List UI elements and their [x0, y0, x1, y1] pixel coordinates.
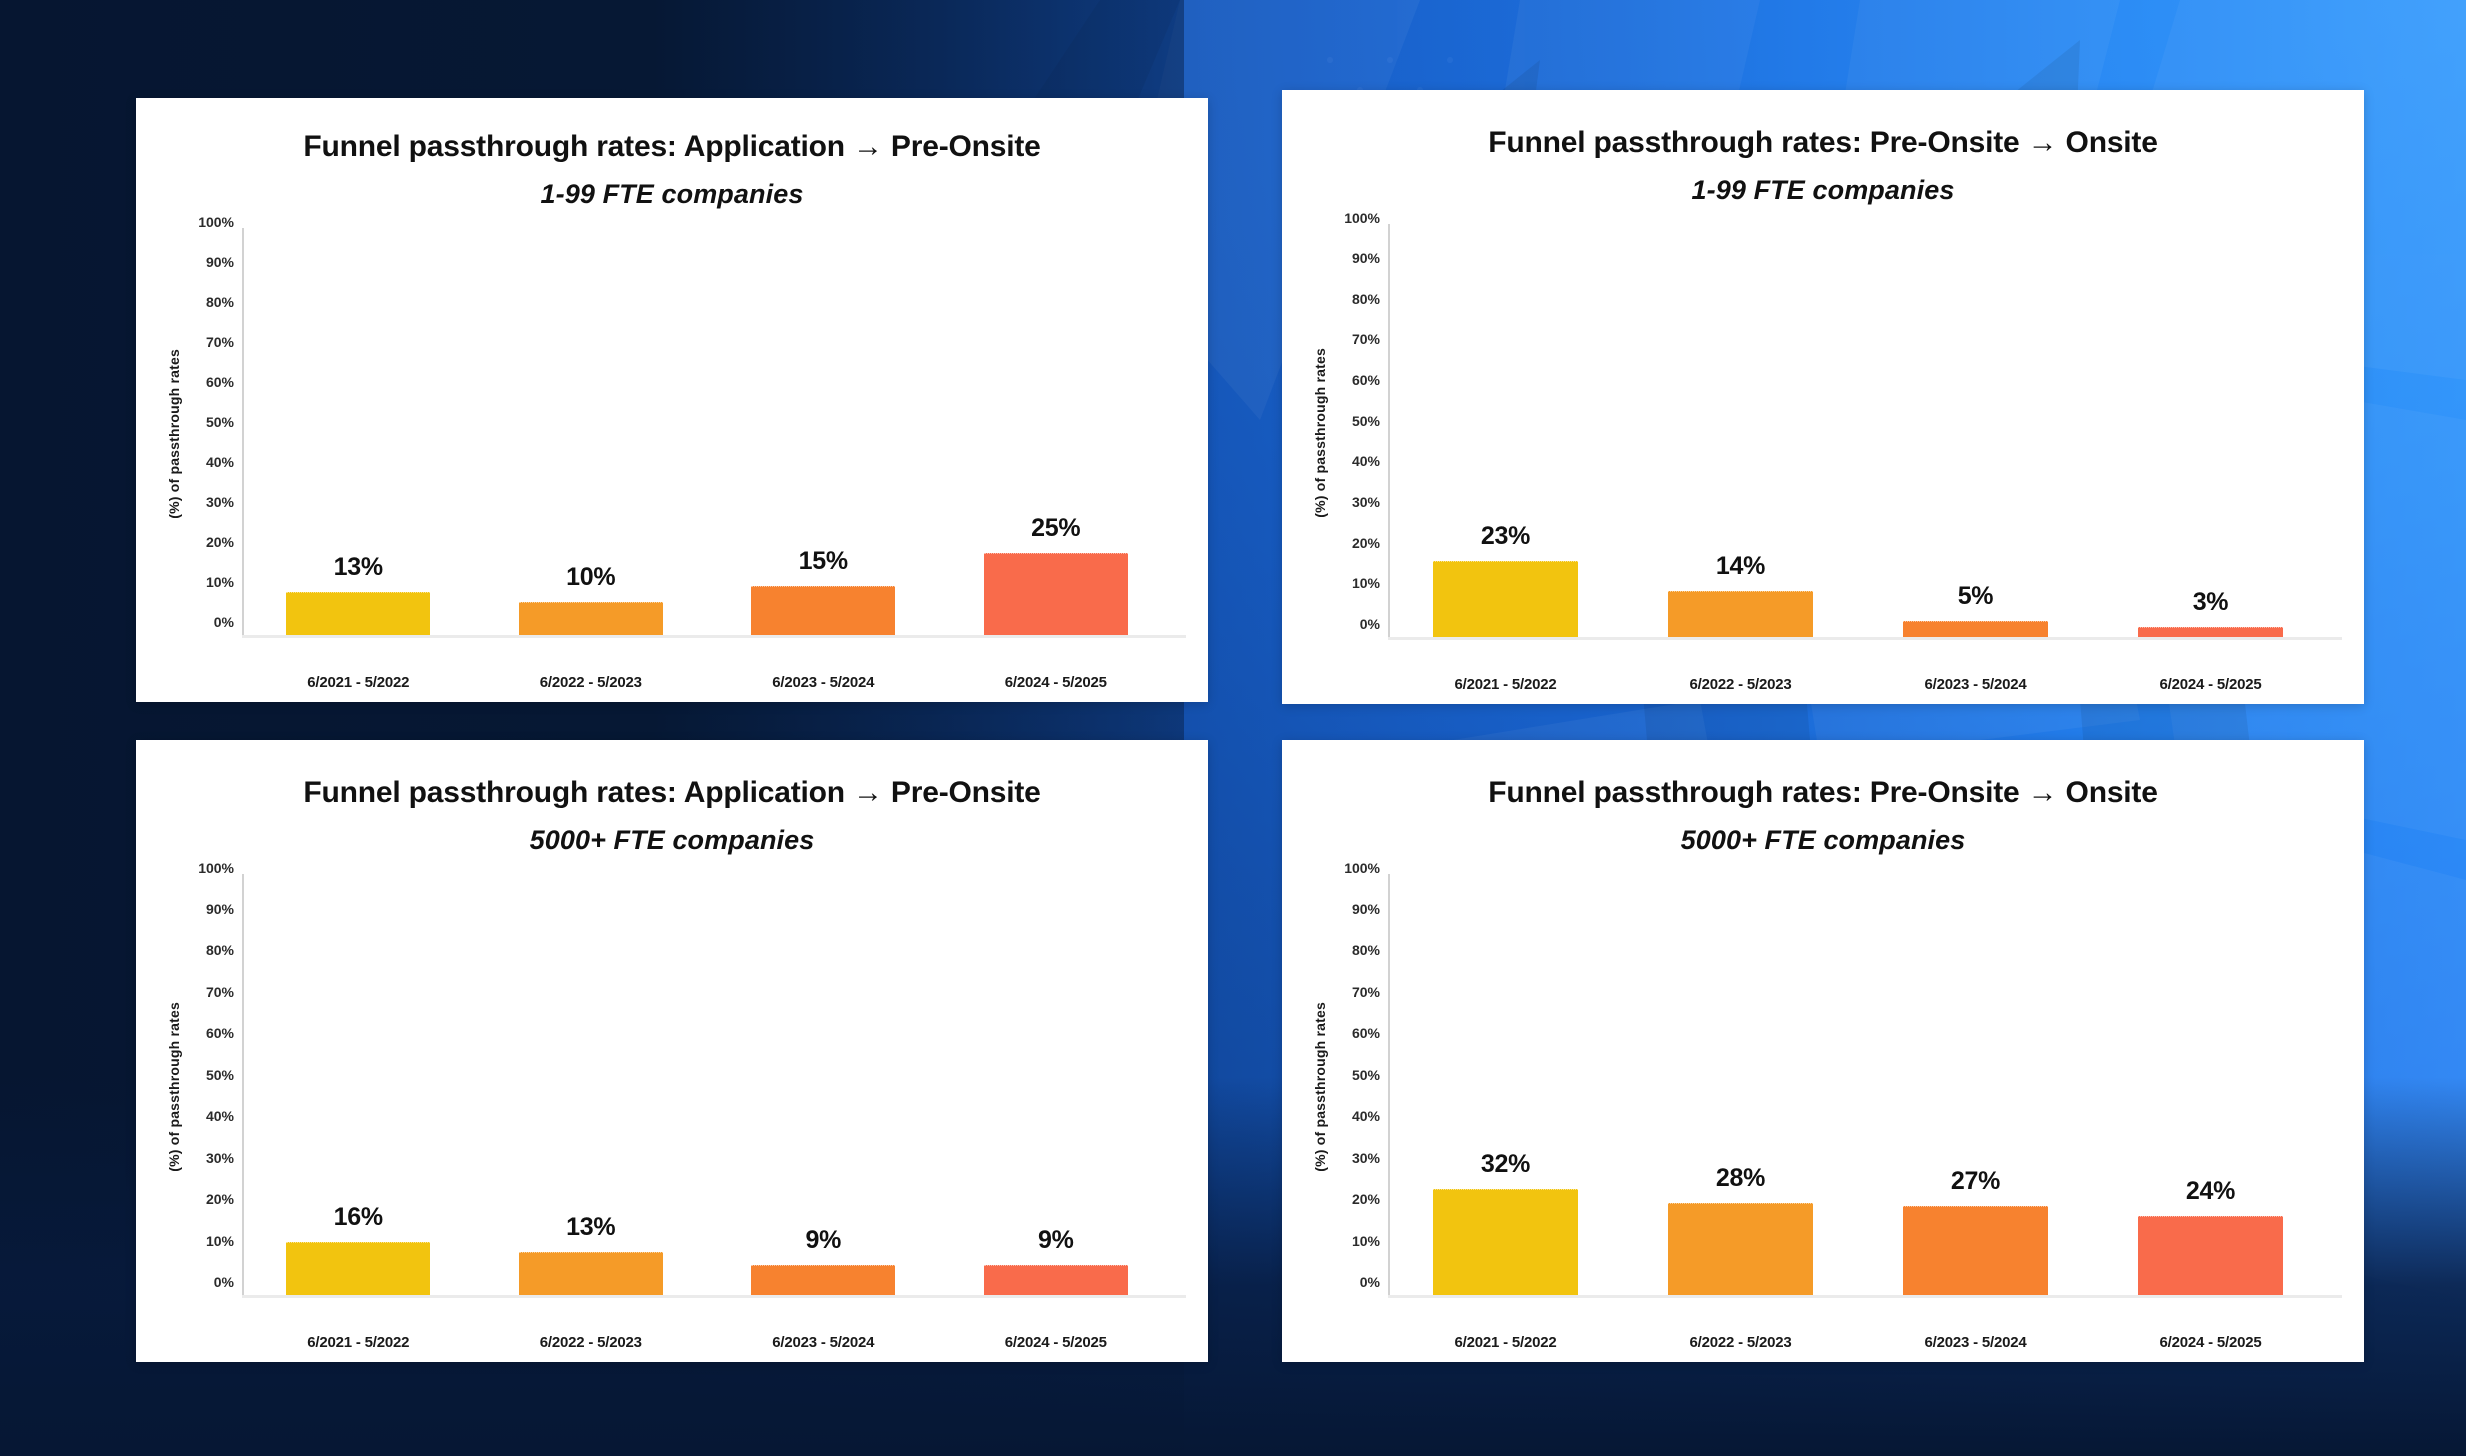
bars-container: 23%14%5%3%6/2021 - 5/20226/2022 - 5/2023…	[1388, 224, 2328, 695]
plot-area: (%) of passthrough rates100%90%80%70%60%…	[1282, 856, 2364, 1363]
x-tick-label: 6/2023 - 5/2024	[772, 674, 874, 691]
chart-subtitle: 1-99 FTE companies	[136, 179, 1208, 210]
chart-grid: Funnel passthrough rates: Application → …	[0, 0, 2466, 1456]
x-tick-label: 6/2022 - 5/2023	[1689, 676, 1791, 693]
x-tick-label: 6/2021 - 5/2022	[307, 1334, 409, 1351]
y-tick-label: 100%	[198, 214, 234, 230]
x-tick-label: 6/2023 - 5/2024	[1924, 676, 2026, 693]
bar[interactable]	[984, 553, 1128, 636]
y-tick-label: 80%	[206, 294, 234, 310]
y-axis-title: (%) of passthrough rates	[166, 349, 182, 519]
plot-area: (%) of passthrough rates100%90%80%70%60%…	[1282, 206, 2364, 705]
y-tick-label: 60%	[1352, 1025, 1380, 1041]
y-tick-label: 70%	[206, 334, 234, 350]
y-tick-label: 70%	[1352, 984, 1380, 1000]
y-tick-label: 10%	[1352, 575, 1380, 591]
y-tick-label: 60%	[206, 374, 234, 390]
chart-subtitle: 1-99 FTE companies	[1282, 175, 2364, 206]
x-axis-baseline	[242, 1295, 1186, 1298]
bar[interactable]	[1433, 1189, 1579, 1295]
bar-group[interactable]: 16%	[286, 1203, 430, 1295]
bars-container: 32%28%27%24%6/2021 - 5/20226/2022 - 5/20…	[1388, 874, 2328, 1353]
x-axis-baseline	[242, 635, 1186, 638]
x-tick-label: 6/2022 - 5/2023	[540, 674, 642, 691]
chart-title: Funnel passthrough rates: Application → …	[136, 776, 1208, 811]
plot-canvas: 100%90%80%70%60%50%40%30%20%10%0%13%10%1…	[188, 228, 1172, 693]
y-tick-label: 70%	[206, 984, 234, 1000]
y-axis-title: (%) of passthrough rates	[166, 1002, 182, 1172]
bar-value-label: 3%	[2193, 588, 2229, 617]
y-tick-label: 30%	[1352, 494, 1380, 510]
chart-title: Funnel passthrough rates: Pre-Onsite → O…	[1282, 126, 2364, 161]
bar-value-label: 9%	[805, 1226, 841, 1255]
x-tick-label: 6/2023 - 5/2024	[772, 1334, 874, 1351]
plot-area: (%) of passthrough rates100%90%80%70%60%…	[136, 210, 1208, 703]
y-tick-label: 80%	[206, 942, 234, 958]
bar-group[interactable]: 23%	[1433, 522, 1579, 637]
bar-group[interactable]: 10%	[519, 563, 663, 635]
y-tick-label: 90%	[1352, 901, 1380, 917]
chart-title: Funnel passthrough rates: Pre-Onsite → O…	[1282, 776, 2364, 811]
y-axis-title: (%) of passthrough rates	[1312, 1002, 1328, 1172]
y-tick-label: 50%	[1352, 413, 1380, 429]
x-tick-label: 6/2021 - 5/2022	[307, 674, 409, 691]
y-tick-label: 60%	[206, 1025, 234, 1041]
y-tick-label: 30%	[206, 1150, 234, 1166]
bar-value-label: 5%	[1958, 582, 1994, 611]
bar-group[interactable]: 14%	[1668, 552, 1814, 637]
bar[interactable]	[1903, 621, 2049, 638]
bar[interactable]	[1668, 1203, 1814, 1295]
chart-subtitle: 5000+ FTE companies	[1282, 825, 2364, 856]
bar[interactable]	[984, 1265, 1128, 1295]
y-tick-label: 60%	[1352, 372, 1380, 388]
y-tick-label: 70%	[1352, 331, 1380, 347]
chart-card-preonsite-to-onsite-5000: Funnel passthrough rates: Pre-Onsite → O…	[1282, 740, 2364, 1362]
y-axis-ticks: 100%90%80%70%60%50%40%30%20%10%0%	[1334, 874, 1388, 1353]
x-axis-baseline	[1388, 637, 2342, 640]
bar[interactable]	[519, 602, 663, 635]
bar-group[interactable]: 5%	[1903, 582, 2049, 638]
bar-group[interactable]: 15%	[751, 547, 895, 636]
y-tick-label: 100%	[198, 860, 234, 876]
bar-value-label: 27%	[1951, 1167, 2000, 1196]
x-tick-label: 6/2021 - 5/2022	[1454, 676, 1556, 693]
bar[interactable]	[751, 586, 895, 636]
x-tick-label: 6/2023 - 5/2024	[1924, 1334, 2026, 1351]
bar-value-label: 9%	[1038, 1226, 1074, 1255]
y-axis-ticks: 100%90%80%70%60%50%40%30%20%10%0%	[188, 228, 242, 693]
bar-group[interactable]: 9%	[751, 1226, 895, 1295]
bar[interactable]	[751, 1265, 895, 1295]
bar[interactable]	[519, 1252, 663, 1295]
bar-value-label: 13%	[334, 553, 383, 582]
bar-group[interactable]: 28%	[1668, 1164, 1814, 1295]
y-tick-label: 50%	[206, 1067, 234, 1083]
y-tick-label: 10%	[206, 574, 234, 590]
y-tick-label: 90%	[206, 901, 234, 917]
y-tick-label: 40%	[1352, 453, 1380, 469]
x-tick-label: 6/2024 - 5/2025	[1005, 674, 1107, 691]
y-tick-label: 90%	[1352, 250, 1380, 266]
bar-group[interactable]: 13%	[519, 1213, 663, 1295]
bar-value-label: 13%	[566, 1213, 615, 1242]
y-tick-label: 30%	[206, 494, 234, 510]
y-tick-label: 20%	[206, 1191, 234, 1207]
chart-card-app-to-preonsite-5000: Funnel passthrough rates: Application → …	[136, 740, 1208, 1362]
y-tick-label: 80%	[1352, 291, 1380, 307]
y-tick-label: 80%	[1352, 942, 1380, 958]
x-axis-baseline	[1388, 1295, 2342, 1298]
bar[interactable]	[286, 1242, 430, 1295]
bar-value-label: 28%	[1716, 1164, 1765, 1193]
bar[interactable]	[1903, 1206, 2049, 1295]
bar-group[interactable]: 25%	[984, 514, 1128, 636]
y-tick-label: 40%	[206, 1108, 234, 1124]
bar-value-label: 10%	[566, 563, 615, 592]
y-tick-label: 0%	[1360, 1274, 1380, 1290]
y-axis-ticks: 100%90%80%70%60%50%40%30%20%10%0%	[188, 874, 242, 1353]
bar-value-label: 24%	[2186, 1177, 2235, 1206]
y-tick-label: 0%	[1360, 616, 1380, 632]
y-tick-label: 20%	[206, 534, 234, 550]
bar-group[interactable]: 32%	[1433, 1150, 1579, 1295]
bar-group[interactable]: 27%	[1903, 1167, 2049, 1295]
y-tick-label: 100%	[1344, 210, 1380, 226]
bars-container: 16%13%9%9%6/2021 - 5/20226/2022 - 5/2023…	[242, 874, 1172, 1353]
bar-group[interactable]: 3%	[2138, 588, 2284, 637]
y-tick-label: 40%	[206, 454, 234, 470]
x-tick-label: 6/2022 - 5/2023	[1689, 1334, 1791, 1351]
bar-value-label: 32%	[1481, 1150, 1530, 1179]
y-tick-label: 30%	[1352, 1150, 1380, 1166]
bar-value-label: 15%	[799, 547, 848, 576]
y-tick-label: 20%	[1352, 535, 1380, 551]
y-tick-label: 100%	[1344, 860, 1380, 876]
bar-value-label: 23%	[1481, 522, 1530, 551]
y-tick-label: 20%	[1352, 1191, 1380, 1207]
y-tick-label: 0%	[214, 614, 234, 630]
x-tick-label: 6/2021 - 5/2022	[1454, 1334, 1556, 1351]
plot-canvas: 100%90%80%70%60%50%40%30%20%10%0%32%28%2…	[1334, 874, 2328, 1353]
x-tick-label: 6/2022 - 5/2023	[540, 1334, 642, 1351]
bar[interactable]	[286, 592, 430, 635]
y-tick-label: 10%	[1352, 1233, 1380, 1249]
bar[interactable]	[2138, 1216, 2284, 1295]
bar[interactable]	[2138, 627, 2284, 637]
y-tick-label: 50%	[206, 414, 234, 430]
bar-value-label: 16%	[334, 1203, 383, 1232]
bar-group[interactable]: 9%	[984, 1226, 1128, 1295]
chart-card-app-to-preonsite-1-99: Funnel passthrough rates: Application → …	[136, 98, 1208, 702]
y-tick-label: 10%	[206, 1233, 234, 1249]
x-tick-label: 6/2024 - 5/2025	[2159, 1334, 2261, 1351]
y-tick-label: 90%	[206, 254, 234, 270]
y-tick-label: 40%	[1352, 1108, 1380, 1124]
bar-group[interactable]: 13%	[286, 553, 430, 635]
y-tick-label: 0%	[214, 1274, 234, 1290]
bar-value-label: 14%	[1716, 552, 1765, 581]
plot-area: (%) of passthrough rates100%90%80%70%60%…	[136, 856, 1208, 1363]
x-tick-label: 6/2024 - 5/2025	[1005, 1334, 1107, 1351]
y-axis-ticks: 100%90%80%70%60%50%40%30%20%10%0%	[1334, 224, 1388, 695]
chart-subtitle: 5000+ FTE companies	[136, 825, 1208, 856]
bar-value-label: 25%	[1031, 514, 1080, 543]
y-tick-label: 50%	[1352, 1067, 1380, 1083]
chart-card-preonsite-to-onsite-1-99: Funnel passthrough rates: Pre-Onsite → O…	[1282, 90, 2364, 704]
y-axis-title: (%) of passthrough rates	[1312, 348, 1328, 518]
x-tick-label: 6/2024 - 5/2025	[2159, 676, 2261, 693]
plot-canvas: 100%90%80%70%60%50%40%30%20%10%0%23%14%5…	[1334, 224, 2328, 695]
bars-container: 13%10%15%25%6/2021 - 5/20226/2022 - 5/20…	[242, 228, 1172, 693]
chart-title: Funnel passthrough rates: Application → …	[136, 130, 1208, 165]
bar[interactable]	[1668, 591, 1814, 637]
plot-canvas: 100%90%80%70%60%50%40%30%20%10%0%16%13%9…	[188, 874, 1172, 1353]
bar-group[interactable]: 24%	[2138, 1177, 2284, 1295]
bar[interactable]	[1433, 561, 1579, 637]
